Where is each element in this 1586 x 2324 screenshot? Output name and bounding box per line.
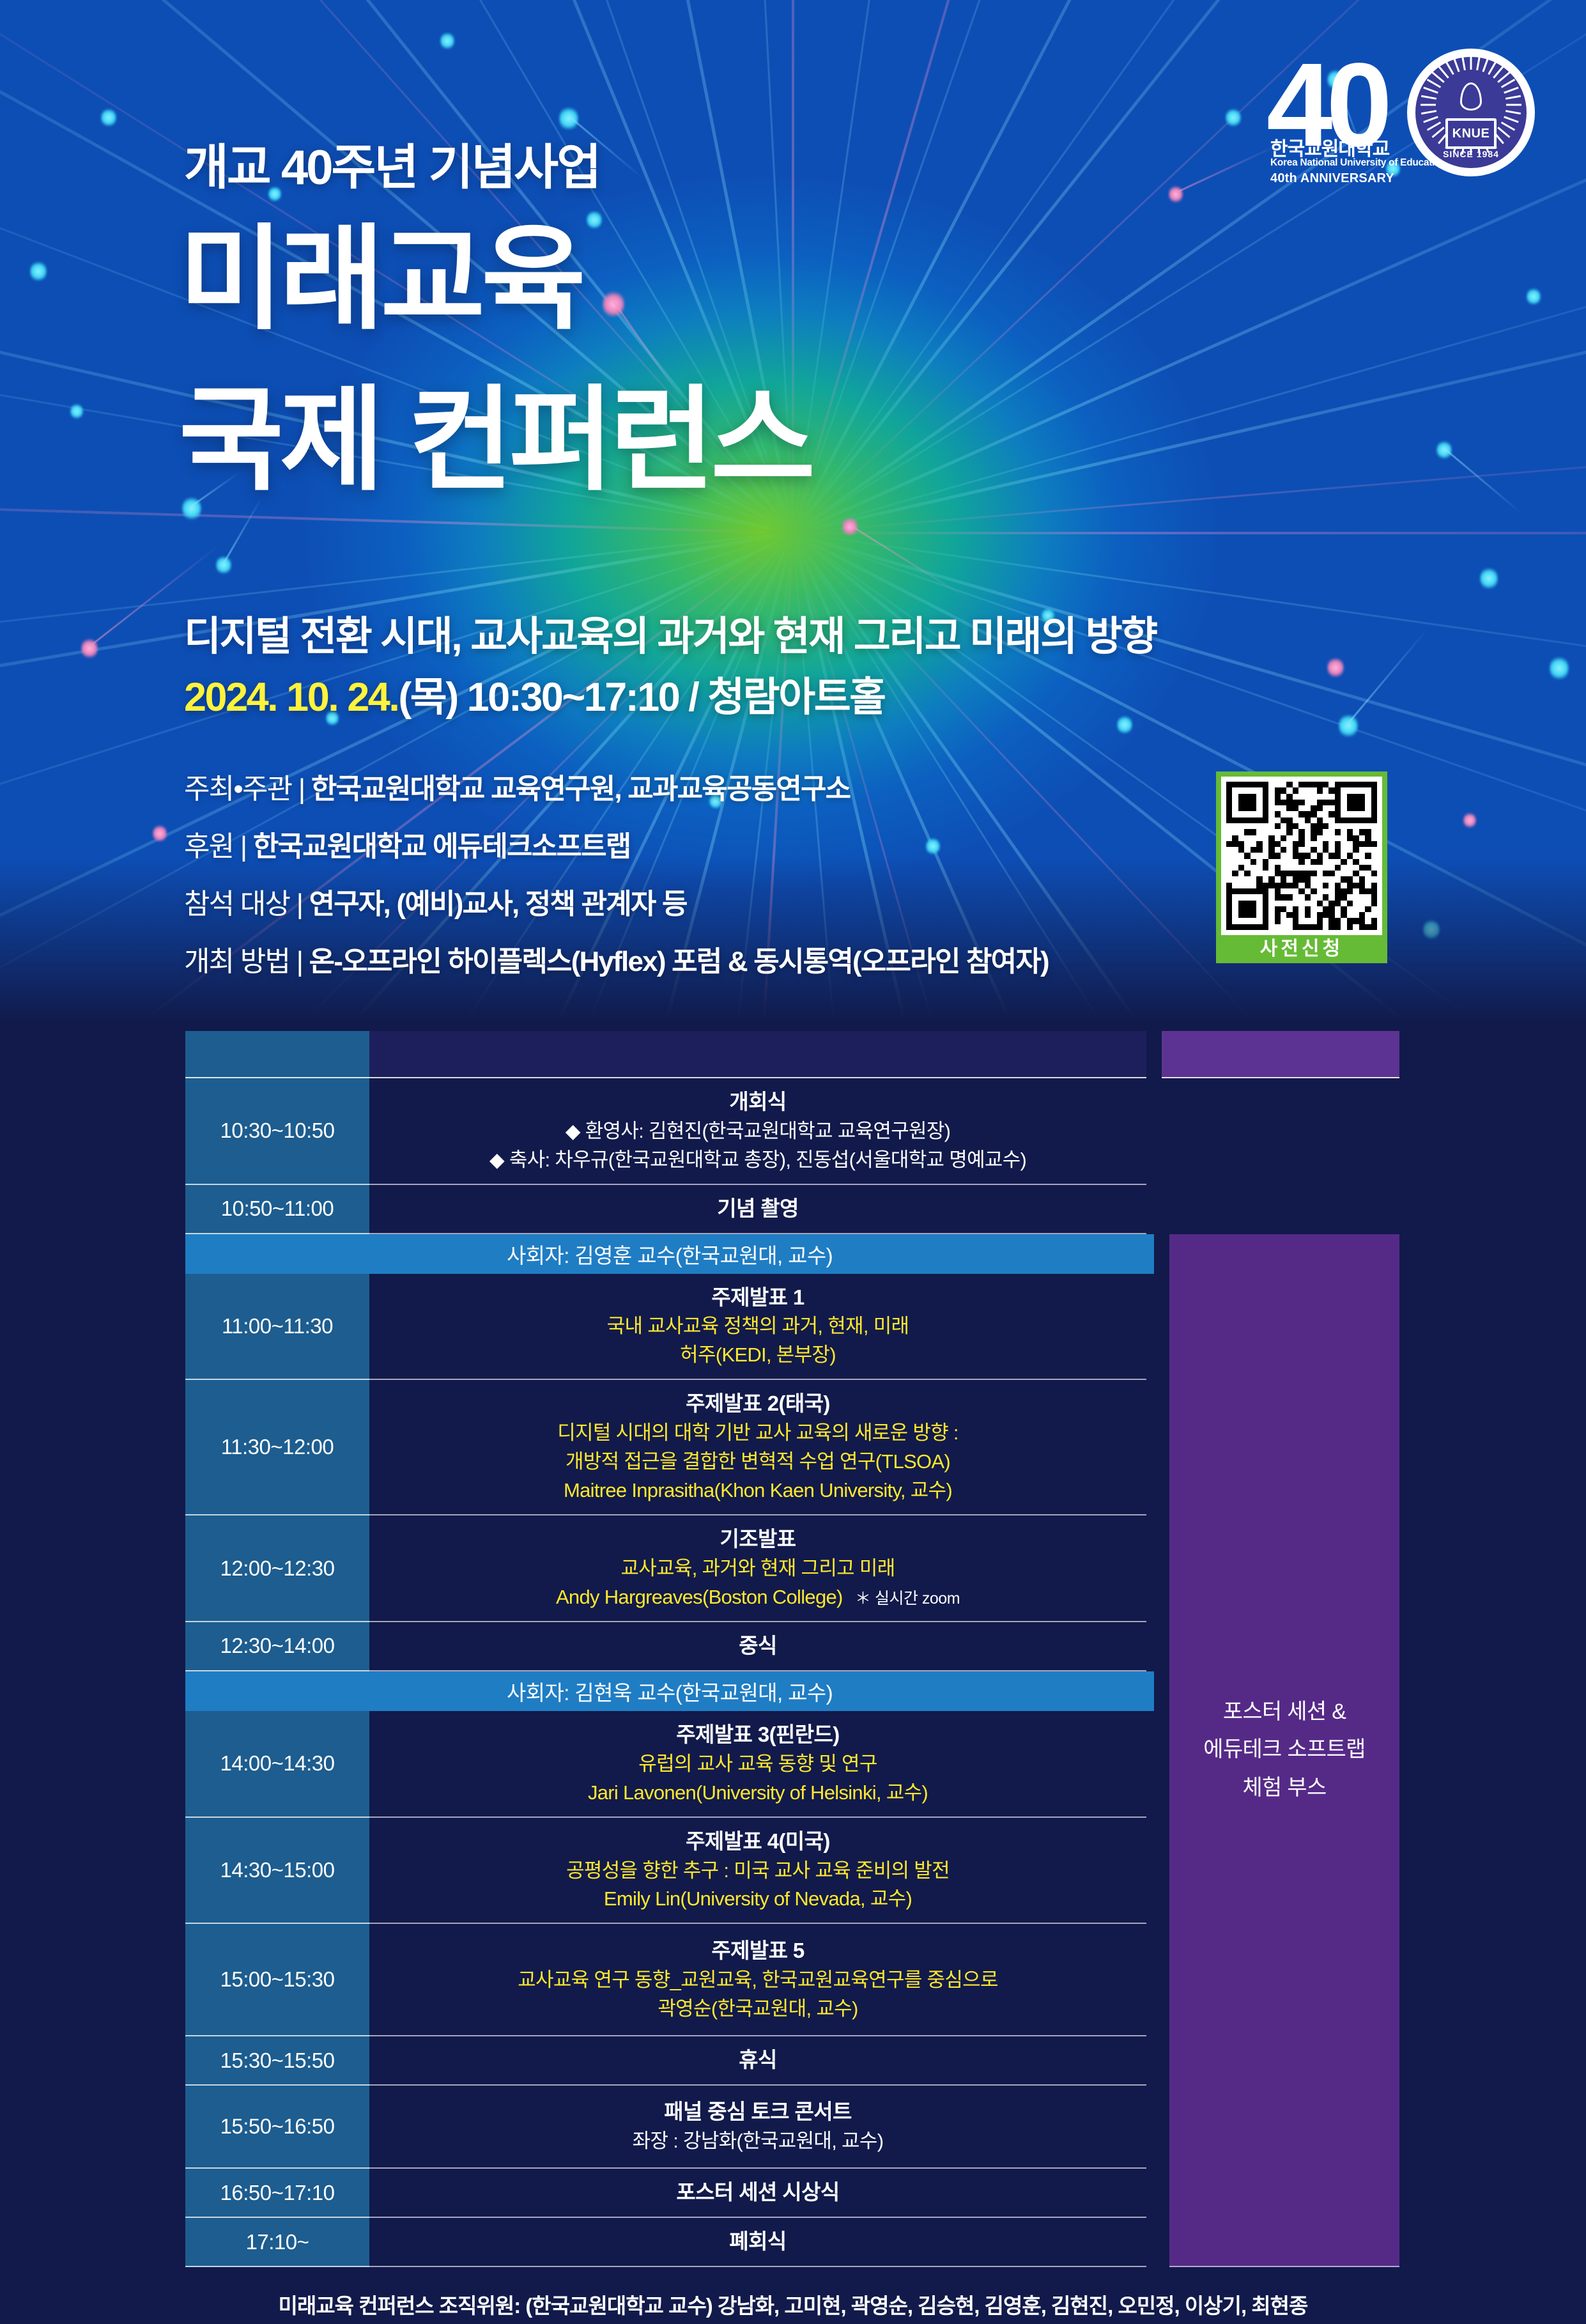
session-cell: 패널 중심 토크 콘서트좌장 : 강남화(한국교원대, 교수) bbox=[369, 2086, 1146, 2169]
session-detail: 디지털 시대의 대학 기반 교사 교육의 새로운 방향 : bbox=[557, 1419, 959, 1448]
date-venue-line: 2024. 10. 24.(목) 10:30~17:10 / 청람아트홀 bbox=[184, 665, 885, 723]
session-detail: 교사교육 연구 동향_교원교육, 한국교원교육연구를 중심으로 bbox=[518, 1966, 998, 1995]
session-title: 주제발표 3(핀란드) bbox=[676, 1720, 839, 1750]
session-cell: 개회식◆ 환영사: 김현진(한국교원대학교 교육연구원장)◆ 축사: 차우규(한… bbox=[369, 1078, 1146, 1185]
session-cell: 휴식 bbox=[369, 2036, 1146, 2086]
session-title: 주제발표 5 bbox=[711, 1936, 804, 1966]
session-cell: 주제발표 2(태국)디지털 시대의 대학 기반 교사 교육의 새로운 방향 :개… bbox=[369, 1380, 1146, 1515]
session-detail: 허주(KEDI, 본부장) bbox=[680, 1341, 836, 1370]
moderator-band-2: 사회자: 김현욱 교수(한국교원대, 교수) bbox=[185, 1671, 1154, 1711]
session-time: 11:30~12:00 bbox=[185, 1380, 369, 1515]
qr-label: 사전신청 bbox=[1221, 935, 1382, 963]
session-detail: Andy Hargreaves(Boston College) ＊ 실시간 zo… bbox=[556, 1583, 960, 1612]
session-title: 주제발표 4(미국) bbox=[686, 1827, 830, 1857]
knue-logo: 40 한국교원대학교 Korea National University of … bbox=[1266, 31, 1535, 190]
session-title: 주제발표 2(태국) bbox=[686, 1389, 830, 1419]
subtitle-text: 디지털 전환 시대, 교사교육의 과거와 현재 그리고 미래의 방향 bbox=[184, 604, 1157, 662]
university-crest-icon: KNUE SINCE 1984 bbox=[1407, 49, 1535, 176]
part2-panel-line: 체험 부스 bbox=[1242, 1769, 1326, 1808]
session-cell: 중식 bbox=[369, 1622, 1146, 1671]
table-header-row bbox=[185, 1031, 1399, 1078]
info-label: 개최 방법 | bbox=[184, 946, 309, 977]
session-cell: 기념 촬영 bbox=[369, 1185, 1146, 1234]
organizing-committee-footer: 미래교육 컨퍼런스 조직위원: (한국교원대학교 교수) 강남화, 고미현, 곽… bbox=[0, 2289, 1586, 2320]
session-detail: ◆ 축사: 차우규(한국교원대학교 총장), 진동섭(서울대학교 명예교수) bbox=[489, 1146, 1026, 1175]
session-time: 12:30~14:00 bbox=[185, 1622, 369, 1671]
session-detail: Maitree Inprasitha(Khon Kaen University,… bbox=[564, 1476, 952, 1505]
session-cell: 폐회식 bbox=[369, 2218, 1146, 2267]
session-time: 15:50~16:50 bbox=[185, 2086, 369, 2169]
session-time: 15:30~15:50 bbox=[185, 2036, 369, 2086]
kicker-text: 개교 40주년 기념사업 bbox=[184, 128, 599, 198]
session-detail: 공평성을 향한 추구 : 미국 교사 교육 준비의 발전 bbox=[566, 1857, 950, 1886]
session-time: 14:30~15:00 bbox=[185, 1818, 369, 1925]
session-time: 15:00~15:30 bbox=[185, 1924, 369, 2036]
anniversary-label: 40th ANNIVERSARY bbox=[1270, 171, 1394, 186]
date-highlight: 2024. 10. 24. bbox=[184, 675, 398, 720]
column-header-part2 bbox=[1162, 1031, 1399, 1078]
part2-experience-panel: 포스터 세션 &에듀테크 소프트랩체험 부스 bbox=[1169, 1234, 1399, 2267]
info-label: 주최•주관 | bbox=[184, 773, 311, 805]
session-time: 12:00~12:30 bbox=[185, 1515, 369, 1622]
info-label: 참석 대상 | bbox=[184, 888, 309, 920]
crest-rays: KNUE SINCE 1984 bbox=[1420, 62, 1521, 163]
session-detail: 교사교육, 과거와 현재 그리고 미래 bbox=[620, 1554, 895, 1583]
info-row: 후원 | 한국교원대학교 에듀테크소프트랩 bbox=[184, 823, 1206, 864]
session-time: 17:10~ bbox=[185, 2218, 369, 2267]
info-value: 연구자, (예비)교사, 정책 관계자 등 bbox=[309, 888, 687, 920]
page-title-line2: 국제 컨퍼런스 bbox=[179, 383, 812, 497]
session-detail: 국내 교사교육 정책의 과거, 현재, 미래 bbox=[607, 1312, 909, 1341]
session-cell: 기조발표교사교육, 과거와 현재 그리고 미래Andy Hargreaves(B… bbox=[369, 1515, 1146, 1622]
crest-acronym: KNUE bbox=[1452, 127, 1490, 141]
crest-since-text: SINCE 1984 bbox=[1443, 149, 1499, 159]
flame-icon bbox=[1460, 82, 1482, 111]
session-note: ＊ 실시간 zoom bbox=[843, 1590, 960, 1607]
session-title: 폐회식 bbox=[729, 2227, 786, 2257]
session-title: 패널 중심 토크 콘서트 bbox=[664, 2097, 852, 2127]
info-value: 한국교원대학교 에듀테크소프트랩 bbox=[253, 831, 631, 862]
session-detail: Emily Lin(University of Nevada, 교수) bbox=[604, 1885, 912, 1914]
info-value: 한국교원대학교 교육연구원, 교과교육공동연구소 bbox=[311, 773, 851, 805]
moderator-band-1: 사회자: 김영훈 교수(한국교원대, 교수) bbox=[185, 1234, 1154, 1274]
session-title: 포스터 세션 시상식 bbox=[676, 2178, 839, 2208]
session-title: 주제발표 1 bbox=[711, 1283, 804, 1313]
university-name-english: Korea National University of Education bbox=[1270, 157, 1446, 169]
info-label: 후원 | bbox=[184, 831, 253, 862]
conference-poster: 40 한국교원대학교 Korea National University of … bbox=[0, 0, 1586, 2324]
session-detail: 개방적 접근을 결합한 변혁적 수업 연구(TLSOA) bbox=[566, 1448, 950, 1476]
session-detail: 곽영순(한국교원대, 교수) bbox=[658, 1995, 858, 2024]
session-title: 기조발표 bbox=[720, 1524, 796, 1554]
session-detail: Jari Lavonen(University of Helsinki, 교수) bbox=[588, 1779, 928, 1808]
session-time: 10:50~11:00 bbox=[185, 1185, 369, 1234]
session-detail: 좌장 : 강남화(한국교원대, 교수) bbox=[633, 2127, 884, 2156]
session-cell: 포스터 세션 시상식 bbox=[369, 2169, 1146, 2218]
qr-code-icon[interactable] bbox=[1221, 777, 1382, 935]
info-list: 주최•주관 | 한국교원대학교 교육연구원, 교과교육공동연구소후원 | 한국교… bbox=[184, 766, 1206, 996]
column-header-time bbox=[185, 1031, 369, 1078]
date-rest: (목) 10:30~17:10 / 청람아트홀 bbox=[398, 675, 884, 720]
session-title: 휴식 bbox=[739, 2045, 777, 2075]
registration-qr-block[interactable]: 사전신청 bbox=[1216, 771, 1387, 963]
session-detail: ◆ 환영사: 김현진(한국교원대학교 교육연구원장) bbox=[566, 1117, 951, 1146]
session-time: 10:30~10:50 bbox=[185, 1078, 369, 1185]
column-header-part1 bbox=[369, 1031, 1146, 1078]
part2-panel-line: 에듀테크 소프트랩 bbox=[1203, 1731, 1365, 1769]
session-detail: 유럽의 교사 교육 동향 및 연구 bbox=[638, 1750, 877, 1779]
page-title-line1: 미래교육 bbox=[179, 222, 582, 336]
info-row: 주최•주관 | 한국교원대학교 교육연구원, 교과교육공동연구소 bbox=[184, 766, 1206, 807]
info-value: 온-오프라인 하이플렉스(Hyflex) 포럼 & 동시통역(오프라인 참여자) bbox=[309, 946, 1049, 977]
info-row: 참석 대상 | 연구자, (예비)교사, 정책 관계자 등 bbox=[184, 881, 1206, 922]
table-row: 10:30~10:50개회식◆ 환영사: 김현진(한국교원대학교 교육연구원장)… bbox=[185, 1078, 1399, 1185]
book-icon: KNUE bbox=[1445, 118, 1497, 149]
table-row: 10:50~11:00기념 촬영 bbox=[185, 1185, 1399, 1234]
session-title: 기념 촬영 bbox=[717, 1194, 799, 1224]
session-title: 개회식 bbox=[729, 1087, 786, 1117]
part2-panel-line: 포스터 세션 & bbox=[1223, 1693, 1346, 1731]
session-title: 중식 bbox=[739, 1631, 777, 1661]
session-cell: 주제발표 4(미국)공평성을 향한 추구 : 미국 교사 교육 준비의 발전Em… bbox=[369, 1818, 1146, 1925]
session-time: 16:50~17:10 bbox=[185, 2169, 369, 2218]
session-cell: 주제발표 5교사교육 연구 동향_교원교육, 한국교원교육연구를 중심으로곽영순… bbox=[369, 1924, 1146, 2036]
info-row: 개최 방법 | 온-오프라인 하이플렉스(Hyflex) 포럼 & 동시통역(오… bbox=[184, 938, 1206, 979]
